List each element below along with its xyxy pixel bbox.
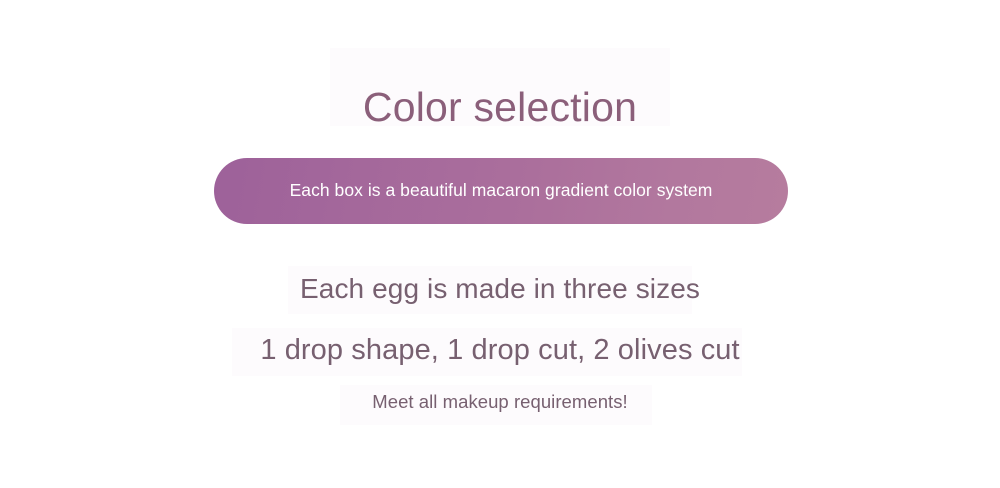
page-title: Color selection [0, 83, 1000, 131]
detail-line-tagline: Meet all makeup requirements! [0, 391, 1000, 413]
banner-label: Each box is a beautiful macaron gradient… [290, 182, 713, 200]
gradient-color-system-banner[interactable]: Each box is a beautiful macaron gradient… [214, 158, 788, 224]
detail-line-sizes: Each egg is made in three sizes [0, 272, 1000, 306]
detail-line-shapes: 1 drop shape, 1 drop cut, 2 olives cut [0, 333, 1000, 368]
product-info-panel: Color selection Each box is a beautiful … [0, 0, 1000, 488]
